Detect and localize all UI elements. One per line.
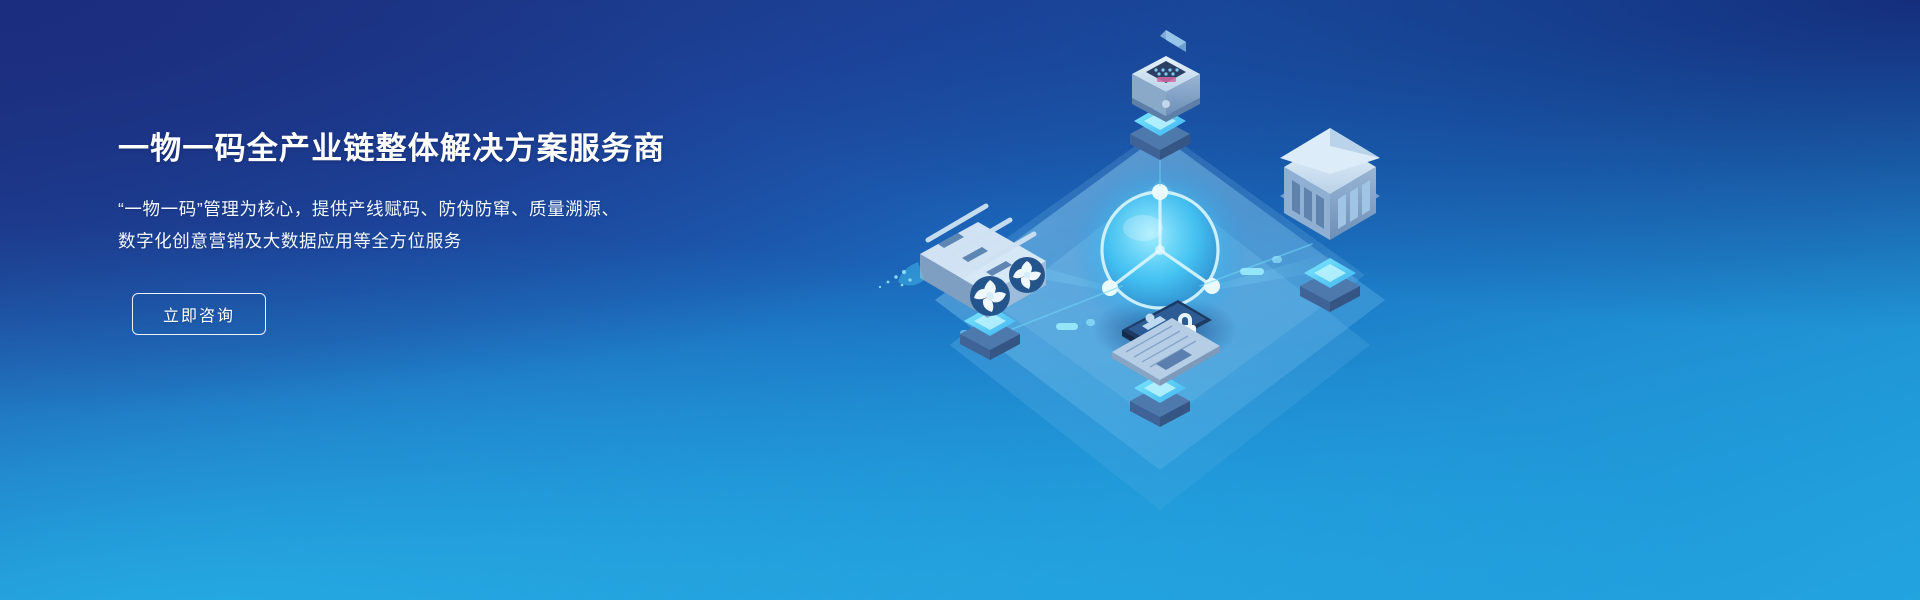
page-title: 一物一码全产业链整体解决方案服务商 — [118, 130, 838, 169]
fan-blades-icon-2 — [1009, 257, 1045, 293]
airflow-particles-icon — [879, 262, 924, 288]
hero-copy-block: 一物一码全产业链整体解决方案服务商 “一物一码”管理为核心，提供产线赋码、防伪防… — [118, 130, 838, 335]
hero-subtitle-line-2: 数字化创意营销及大数据应用等全方位服务 — [118, 225, 838, 257]
bank-building-icon — [1280, 128, 1380, 240]
fan-blades-icon — [970, 276, 1010, 316]
hero-subtitle: “一物一码”管理为核心，提供产线赋码、防伪防窜、质量溯源、 数字化创意营销及大数… — [118, 193, 838, 257]
hero-banner: 一物一码全产业链整体解决方案服务商 “一物一码”管理为核心，提供产线赋码、防伪防… — [0, 0, 1920, 600]
consult-now-button[interactable]: 立即咨询 — [132, 293, 266, 335]
pos-terminal-icon — [1132, 0, 1200, 122]
hero-illustration — [860, 0, 1520, 600]
hero-subtitle-line-1: “一物一码”管理为核心，提供产线赋码、防伪防窜、质量溯源、 — [118, 193, 838, 225]
